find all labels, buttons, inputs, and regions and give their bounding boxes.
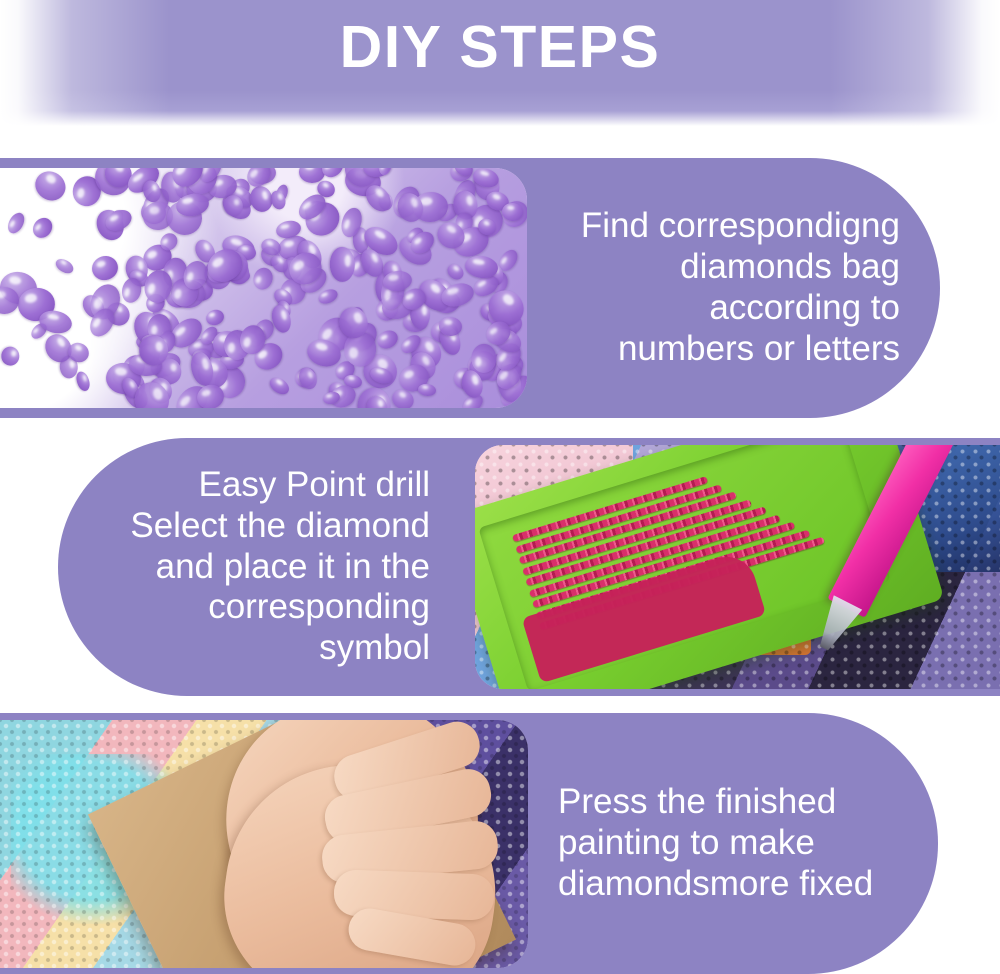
- step-card-2: Easy Point drill Select the diamond and …: [58, 438, 1000, 696]
- step-1-text: Find correspondigng diamonds bag accordi…: [527, 206, 940, 370]
- step-2-image: [475, 445, 1000, 689]
- step-3-image: Note Book: [0, 720, 528, 968]
- step-card-1: Find correspondigng diamonds bag accordi…: [0, 158, 940, 418]
- diamond-bead: [1, 346, 20, 365]
- step-card-3: Note Book Press the finished painting to…: [0, 713, 938, 974]
- step-1-image: [0, 168, 527, 408]
- step-2-text: Easy Point drill Select the diamond and …: [58, 465, 475, 670]
- page-title: DIY STEPS: [340, 18, 661, 77]
- step-3-text: Press the finished painting to make diam…: [528, 782, 938, 905]
- header-banner: DIY STEPS: [0, 0, 1000, 126]
- diamond-bead: [471, 344, 496, 374]
